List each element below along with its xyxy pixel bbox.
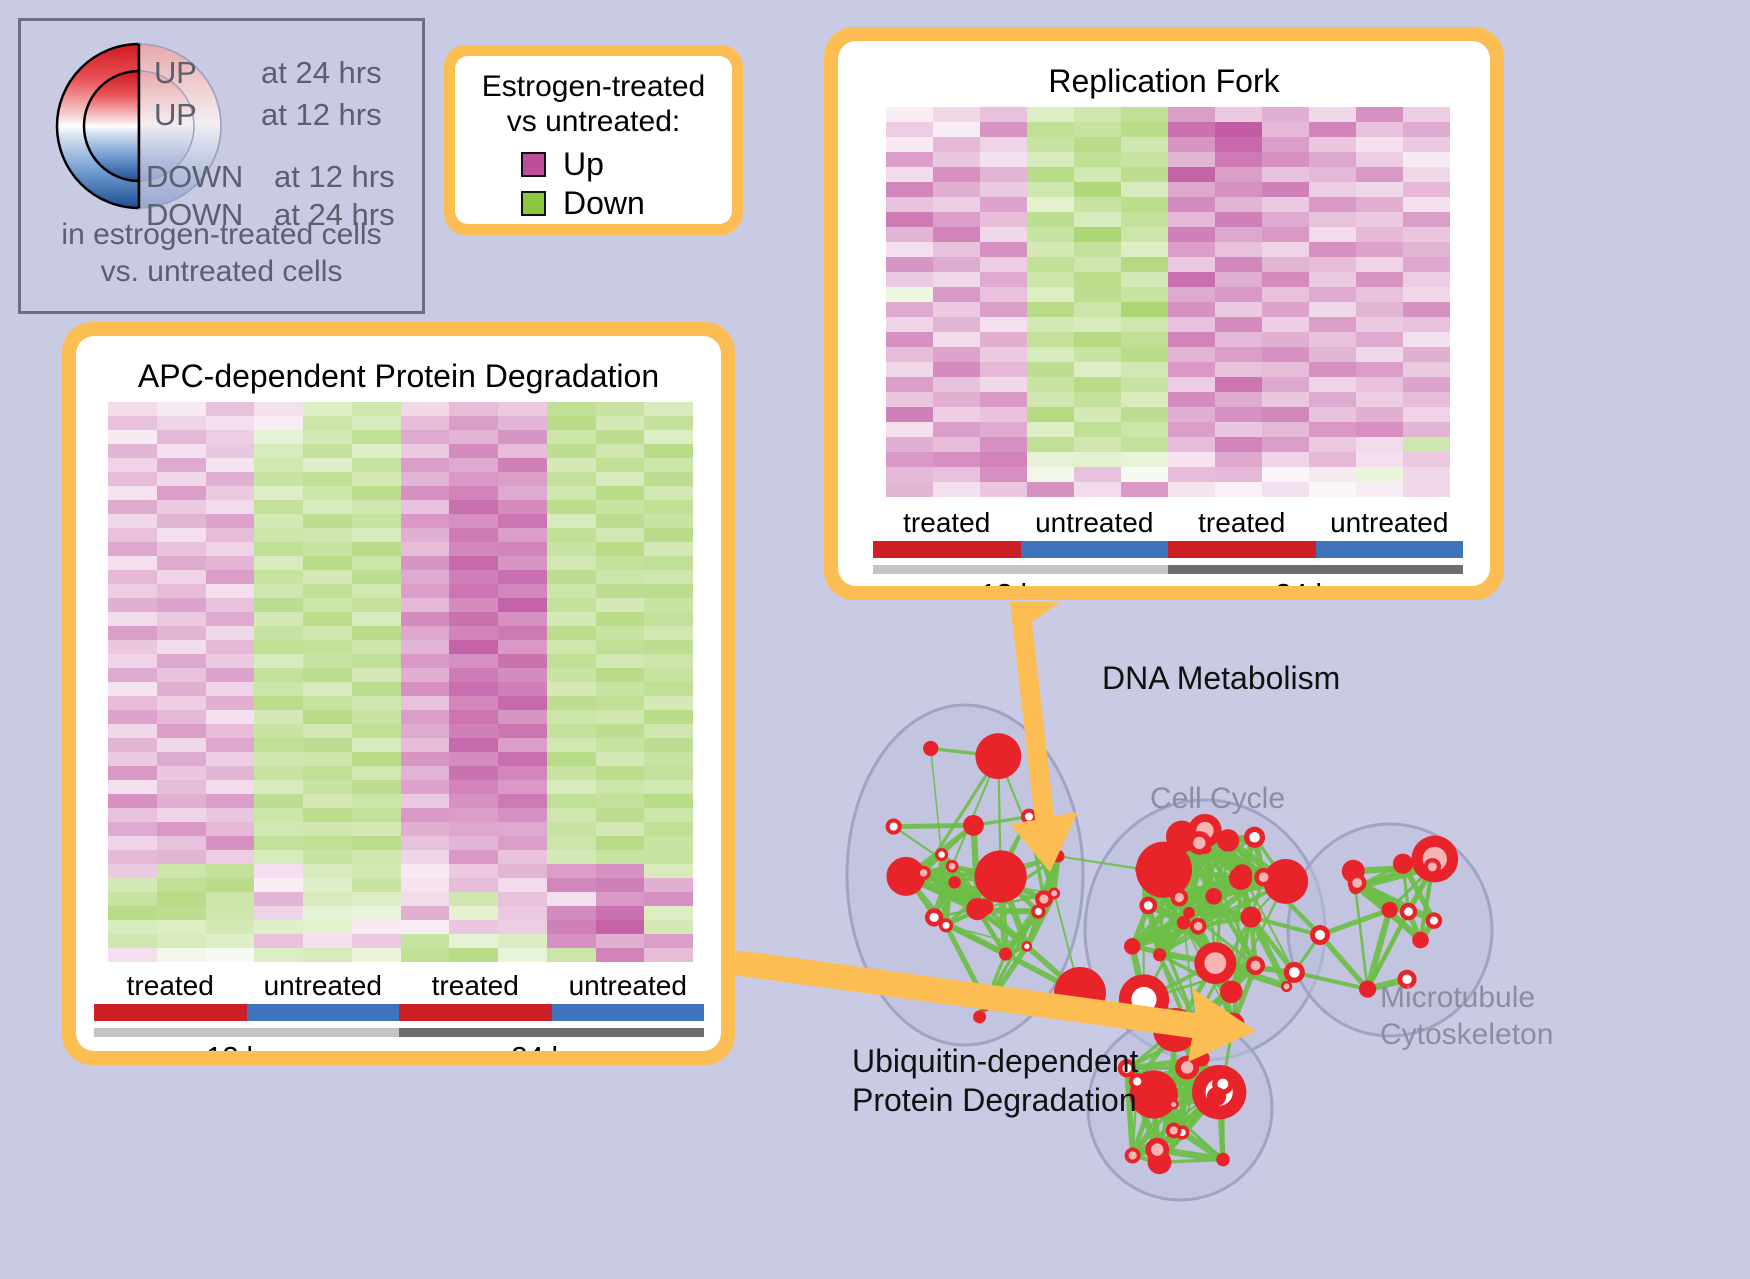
- pathway-network-graph: [780, 600, 1750, 1279]
- heatmap-cell: [1027, 212, 1074, 227]
- heatmap-cell: [547, 724, 596, 738]
- heatmap-cell: [1074, 272, 1121, 287]
- heatmap-cell: [1356, 332, 1403, 347]
- heatmap-cell: [886, 452, 933, 467]
- heatmap-cell: [254, 850, 303, 864]
- heatmap-cell: [1121, 452, 1168, 467]
- heatmap-cell: [1027, 407, 1074, 422]
- heatmap-cell: [108, 556, 157, 570]
- legend-label-down: Down: [563, 187, 645, 219]
- heatmap-cell: [108, 794, 157, 808]
- heatmap-cell: [644, 752, 693, 766]
- heatmap-cell: [1309, 272, 1356, 287]
- heatmap-cell: [449, 556, 498, 570]
- heatmap-cell: [498, 556, 547, 570]
- heatmap-cell: [254, 934, 303, 948]
- heatmap-cell: [303, 864, 352, 878]
- heatmap-cell: [449, 920, 498, 934]
- heatmap-cell: [886, 272, 933, 287]
- heatmap-cell: [1074, 377, 1121, 392]
- heatmap-cell: [980, 317, 1027, 332]
- network-node-core: [1025, 813, 1033, 821]
- heatmap-cell: [980, 362, 1027, 377]
- heatmap-cell: [933, 287, 980, 302]
- heatmap-cell: [303, 640, 352, 654]
- network-node-core: [1352, 878, 1362, 888]
- heatmap-cell: [1262, 122, 1309, 137]
- heatmap-cell: [1262, 167, 1309, 182]
- heatmap-cell: [401, 864, 450, 878]
- heatmap-cell: [498, 444, 547, 458]
- heatmap-cell: [157, 752, 206, 766]
- heatmap-cell: [1309, 107, 1356, 122]
- heatmap-cell: [1027, 182, 1074, 197]
- figure-canvas: UP at 24 hrs UP at 12 hrs DOWN at 12 hrs…: [0, 0, 1750, 1279]
- heatmap-cell: [547, 682, 596, 696]
- heatmap-cell: [1027, 152, 1074, 167]
- network-node-core: [1430, 917, 1438, 925]
- heatmap-cell: [1168, 242, 1215, 257]
- heatmap-cell: [157, 570, 206, 584]
- heatmap-cell: [1121, 437, 1168, 452]
- heatmap-cell: [352, 794, 401, 808]
- heatmap-cell: [303, 458, 352, 472]
- heatmap-cell: [1121, 152, 1168, 167]
- heatmap-cell: [401, 878, 450, 892]
- heatmap-cell: [1215, 257, 1262, 272]
- legend-title-line1: Estrogen-treated: [455, 70, 732, 105]
- heatmap-cell: [1027, 287, 1074, 302]
- condition-bar-segment-untreated: [247, 1004, 400, 1021]
- heatmap-cell: [254, 654, 303, 668]
- heatmap-cell: [1356, 317, 1403, 332]
- heatmap-cell: [352, 458, 401, 472]
- heatmap-cell: [108, 458, 157, 472]
- heatmap-cell: [401, 654, 450, 668]
- microtubule-line1: Microtubule: [1380, 980, 1553, 1017]
- heatmap-cell: [206, 878, 255, 892]
- heatmap-cell: [1262, 407, 1309, 422]
- heatmap-cell: [157, 766, 206, 780]
- heatmap-cell: [1262, 152, 1309, 167]
- network-node: [948, 876, 961, 889]
- heatmap-cell: [1403, 317, 1450, 332]
- network-node-core: [930, 913, 939, 922]
- heatmap-cell: [1262, 212, 1309, 227]
- apc-degradation-heatmap: [108, 402, 693, 962]
- heatmap-cell: [886, 212, 933, 227]
- heatmap-cell: [886, 287, 933, 302]
- heatmap-cell: [498, 416, 547, 430]
- heatmap-cell: [933, 392, 980, 407]
- heatmap-cell: [498, 850, 547, 864]
- heatmap-cell: [1121, 302, 1168, 317]
- heatmap-cell: [886, 317, 933, 332]
- heatmap-cell: [644, 948, 693, 962]
- heatmap-cell: [596, 892, 645, 906]
- heatmap-cell: [108, 640, 157, 654]
- apc-sample-label-2: treated: [399, 970, 552, 1002]
- heatmap-cell: [1262, 482, 1309, 497]
- heatmap-cell: [498, 836, 547, 850]
- heatmap-cell: [1403, 422, 1450, 437]
- heatmap-cell: [1121, 242, 1168, 257]
- heatmap-cell: [1356, 137, 1403, 152]
- heatmap-cell: [1168, 347, 1215, 362]
- heatmap-cell: [547, 850, 596, 864]
- heatmap-cell: [401, 528, 450, 542]
- replication-fork-time-bar: [873, 565, 1463, 574]
- network-label-microtubule-cytoskeleton: Microtubule Cytoskeleton: [1380, 980, 1553, 1053]
- heatmap-cell: [206, 472, 255, 486]
- heatmap-cell: [1074, 107, 1121, 122]
- heatmap-cell: [1121, 317, 1168, 332]
- heatmap-cell: [596, 556, 645, 570]
- heatmap-cell: [886, 482, 933, 497]
- heatmap-cell: [157, 738, 206, 752]
- heatmap-cell: [1168, 407, 1215, 422]
- heatmap-cell: [1074, 212, 1121, 227]
- heatmap-cell: [1356, 347, 1403, 362]
- heatmap-cell: [498, 948, 547, 962]
- heatmap-cell: [1168, 257, 1215, 272]
- heatmap-cell: [1403, 332, 1450, 347]
- heatmap-cell: [547, 570, 596, 584]
- heatmap-cell: [206, 430, 255, 444]
- heatmap-cell: [1121, 197, 1168, 212]
- heatmap-cell: [352, 808, 401, 822]
- heatmap-cell: [303, 710, 352, 724]
- heatmap-cell: [206, 556, 255, 570]
- heatmap-cell: [401, 794, 450, 808]
- heatmap-cell: [933, 482, 980, 497]
- heatmap-cell: [352, 528, 401, 542]
- heatmap-cell: [1215, 212, 1262, 227]
- network-label-ubiquitin-degradation: Ubiquitin-dependent Protein Degradation: [852, 1042, 1138, 1120]
- heatmap-cell: [547, 640, 596, 654]
- heatmap-cell: [644, 402, 693, 416]
- heatmap-cell: [108, 416, 157, 430]
- heatmap-cell: [1262, 107, 1309, 122]
- color-key-footer: in estrogen-treated cells vs. untreated …: [21, 217, 422, 290]
- heatmap-cell: [886, 332, 933, 347]
- heatmap-cell: [547, 794, 596, 808]
- heatmap-cell: [206, 696, 255, 710]
- heatmap-cell: [352, 850, 401, 864]
- rf-time-label-0: 12 hrs: [873, 579, 1168, 586]
- network-node: [975, 850, 1027, 902]
- heatmap-cell: [303, 486, 352, 500]
- heatmap-cell: [449, 668, 498, 682]
- heatmap-cell: [644, 738, 693, 752]
- heatmap-cell: [644, 682, 693, 696]
- heatmap-cell: [449, 542, 498, 556]
- heatmap-cell: [1168, 317, 1215, 332]
- updown-legend-card: Estrogen-treated vs untreated: Up Down: [444, 45, 743, 235]
- heatmap-cell: [1168, 467, 1215, 482]
- heatmap-cell: [401, 836, 450, 850]
- heatmap-cell: [1027, 452, 1074, 467]
- heatmap-cell: [303, 584, 352, 598]
- condition-bar-segment-treated: [399, 1004, 552, 1021]
- heatmap-cell: [1215, 437, 1262, 452]
- heatmap-cell: [596, 780, 645, 794]
- heatmap-cell: [644, 780, 693, 794]
- network-node: [1205, 888, 1222, 905]
- legend-label-up: Up: [563, 148, 604, 180]
- heatmap-cell: [498, 570, 547, 584]
- heatmap-cell: [108, 472, 157, 486]
- heatmap-cell: [108, 528, 157, 542]
- heatmap-cell: [596, 878, 645, 892]
- heatmap-cell: [206, 906, 255, 920]
- heatmap-cell: [254, 402, 303, 416]
- heatmap-cell: [933, 182, 980, 197]
- heatmap-cell: [1403, 182, 1450, 197]
- heatmap-cell: [498, 920, 547, 934]
- color-key-label-up-12: UP: [154, 97, 196, 133]
- heatmap-cell: [1215, 197, 1262, 212]
- network-node: [1412, 932, 1429, 949]
- heatmap-cell: [352, 836, 401, 850]
- heatmap-cell: [498, 878, 547, 892]
- heatmap-cell: [980, 167, 1027, 182]
- network-node: [1217, 829, 1240, 852]
- heatmap-cell: [1262, 257, 1309, 272]
- heatmap-cell: [547, 836, 596, 850]
- heatmap-cell: [157, 402, 206, 416]
- heatmap-cell: [254, 640, 303, 654]
- heatmap-cell: [1027, 482, 1074, 497]
- heatmap-cell: [1074, 122, 1121, 137]
- replication-fork-card: Replication Fork treated untreated treat…: [824, 27, 1504, 600]
- heatmap-cell: [596, 668, 645, 682]
- heatmap-cell: [157, 682, 206, 696]
- heatmap-cell: [352, 626, 401, 640]
- heatmap-cell: [596, 458, 645, 472]
- heatmap-cell: [1168, 272, 1215, 287]
- heatmap-cell: [449, 878, 498, 892]
- rf-sample-label-2: treated: [1168, 507, 1316, 539]
- heatmap-cell: [206, 668, 255, 682]
- heatmap-cell: [1262, 227, 1309, 242]
- network-node: [1359, 981, 1376, 998]
- heatmap-cell: [157, 878, 206, 892]
- heatmap-cell: [303, 570, 352, 584]
- heatmap-cell: [108, 668, 157, 682]
- network-node: [1153, 948, 1166, 961]
- heatmap-cell: [980, 302, 1027, 317]
- heatmap-cell: [254, 752, 303, 766]
- heatmap-cell: [1168, 332, 1215, 347]
- heatmap-cell: [401, 682, 450, 696]
- heatmap-cell: [449, 892, 498, 906]
- heatmap-cell: [596, 906, 645, 920]
- heatmap-cell: [547, 864, 596, 878]
- heatmap-cell: [254, 780, 303, 794]
- heatmap-cell: [1215, 182, 1262, 197]
- heatmap-cell: [449, 696, 498, 710]
- heatmap-cell: [352, 668, 401, 682]
- heatmap-cell: [1262, 467, 1309, 482]
- rf-sample-label-0: treated: [873, 507, 1021, 539]
- heatmap-cell: [980, 122, 1027, 137]
- heatmap-cell: [352, 472, 401, 486]
- heatmap-cell: [254, 570, 303, 584]
- heatmap-cell: [254, 444, 303, 458]
- heatmap-cell: [108, 570, 157, 584]
- network-node: [923, 741, 938, 756]
- heatmap-cell: [933, 107, 980, 122]
- heatmap-cell: [303, 654, 352, 668]
- heatmap-cell: [1027, 392, 1074, 407]
- heatmap-cell: [498, 542, 547, 556]
- heatmap-cell: [1356, 167, 1403, 182]
- apc-degradation-card: APC-dependent Protein Degradation treate…: [62, 322, 735, 1065]
- heatmap-cell: [644, 626, 693, 640]
- heatmap-cell: [596, 598, 645, 612]
- color-key-footer-line2: vs. untreated cells: [21, 254, 422, 291]
- heatmap-cell: [254, 948, 303, 962]
- heatmap-cell: [1309, 302, 1356, 317]
- heatmap-cell: [980, 332, 1027, 347]
- heatmap-cell: [1074, 332, 1121, 347]
- heatmap-cell: [1027, 422, 1074, 437]
- apc-degradation-title: APC-dependent Protein Degradation: [76, 358, 721, 395]
- heatmap-cell: [1403, 362, 1450, 377]
- network-node-core: [1249, 832, 1260, 843]
- heatmap-cell: [1403, 452, 1450, 467]
- heatmap-cell: [206, 864, 255, 878]
- heatmap-cell: [644, 514, 693, 528]
- heatmap-cell: [886, 152, 933, 167]
- condition-bar-segment-treated: [1168, 541, 1316, 558]
- heatmap-cell: [254, 612, 303, 626]
- heatmap-cell: [886, 422, 933, 437]
- heatmap-cell: [108, 780, 157, 794]
- heatmap-cell: [108, 752, 157, 766]
- heatmap-cell: [1121, 107, 1168, 122]
- heatmap-cell: [547, 752, 596, 766]
- heatmap-cell: [596, 654, 645, 668]
- heatmap-cell: [157, 430, 206, 444]
- heatmap-cell: [254, 458, 303, 472]
- heatmap-cell: [1074, 152, 1121, 167]
- heatmap-cell: [1403, 407, 1450, 422]
- network-node: [999, 948, 1012, 961]
- heatmap-cell: [498, 430, 547, 444]
- heatmap-cell: [1168, 302, 1215, 317]
- heatmap-cell: [157, 640, 206, 654]
- heatmap-cell: [254, 626, 303, 640]
- heatmap-cell: [254, 584, 303, 598]
- heatmap-cell: [1309, 152, 1356, 167]
- heatmap-cell: [157, 822, 206, 836]
- heatmap-cell: [1309, 257, 1356, 272]
- heatmap-cell: [254, 892, 303, 906]
- heatmap-cell: [1215, 377, 1262, 392]
- heatmap-cell: [933, 317, 980, 332]
- heatmap-cell: [352, 934, 401, 948]
- heatmap-cell: [1027, 437, 1074, 452]
- heatmap-cell: [886, 182, 933, 197]
- heatmap-cell: [933, 347, 980, 362]
- network-node-core: [938, 851, 945, 858]
- heatmap-cell: [1074, 482, 1121, 497]
- heatmap-cell: [1309, 407, 1356, 422]
- heatmap-cell: [303, 752, 352, 766]
- heatmap-cell: [596, 724, 645, 738]
- heatmap-cell: [108, 766, 157, 780]
- heatmap-cell: [1403, 437, 1450, 452]
- heatmap-cell: [1215, 407, 1262, 422]
- heatmap-cell: [498, 752, 547, 766]
- heatmap-cell: [980, 452, 1027, 467]
- heatmap-cell: [596, 808, 645, 822]
- heatmap-cell: [108, 514, 157, 528]
- heatmap-cell: [303, 836, 352, 850]
- heatmap-cell: [644, 570, 693, 584]
- replication-fork-condition-bar: [873, 541, 1463, 558]
- heatmap-cell: [1262, 137, 1309, 152]
- heatmap-cell: [1027, 227, 1074, 242]
- heatmap-cell: [933, 152, 980, 167]
- heatmap-cell: [498, 822, 547, 836]
- heatmap-cell: [254, 542, 303, 556]
- heatmap-cell: [1027, 197, 1074, 212]
- heatmap-cell: [1215, 287, 1262, 302]
- heatmap-cell: [401, 822, 450, 836]
- heatmap-cell: [886, 167, 933, 182]
- heatmap-cell: [1309, 377, 1356, 392]
- heatmap-cell: [1074, 197, 1121, 212]
- heatmap-cell: [401, 430, 450, 444]
- heatmap-cell: [980, 212, 1027, 227]
- network-node-core: [1144, 901, 1153, 910]
- apc-time-labels: 12 hrs 24 hrs: [94, 1042, 704, 1051]
- heatmap-cell: [206, 892, 255, 906]
- heatmap-cell: [980, 227, 1027, 242]
- heatmap-cell: [1356, 302, 1403, 317]
- heatmap-cell: [206, 500, 255, 514]
- heatmap-cell: [644, 640, 693, 654]
- heatmap-cell: [206, 752, 255, 766]
- heatmap-cell: [303, 542, 352, 556]
- heatmap-cell: [980, 482, 1027, 497]
- heatmap-cell: [449, 528, 498, 542]
- heatmap-cell: [1356, 242, 1403, 257]
- heatmap-cell: [449, 458, 498, 472]
- heatmap-cell: [157, 598, 206, 612]
- heatmap-cell: [401, 766, 450, 780]
- heatmap-cell: [1215, 467, 1262, 482]
- heatmap-cell: [547, 696, 596, 710]
- heatmap-cell: [1074, 452, 1121, 467]
- heatmap-cell: [596, 626, 645, 640]
- heatmap-cell: [980, 437, 1027, 452]
- heatmap-cell: [1309, 392, 1356, 407]
- network-node-core: [1204, 952, 1226, 974]
- heatmap-cell: [596, 472, 645, 486]
- heatmap-cell: [1121, 332, 1168, 347]
- heatmap-cell: [933, 407, 980, 422]
- heatmap-cell: [980, 287, 1027, 302]
- heatmap-cell: [401, 584, 450, 598]
- heatmap-cell: [547, 430, 596, 444]
- heatmap-cell: [157, 542, 206, 556]
- heatmap-cell: [157, 948, 206, 962]
- heatmap-cell: [108, 948, 157, 962]
